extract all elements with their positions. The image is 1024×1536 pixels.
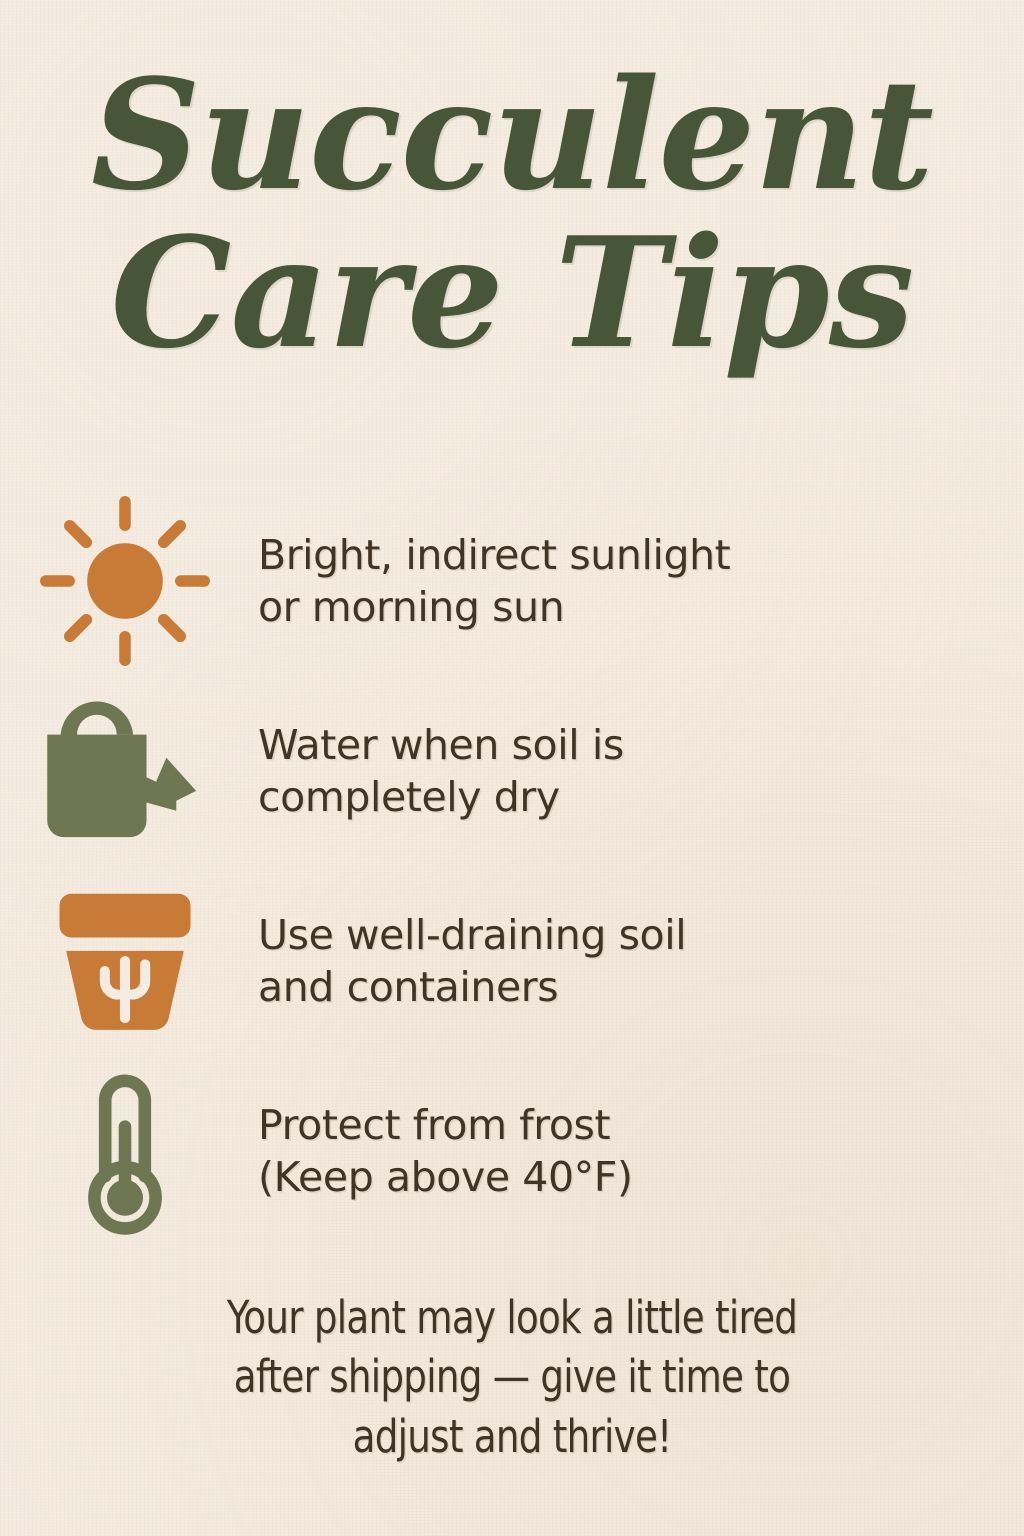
tip-text-watering: Water when soil is completely dry: [250, 719, 624, 824]
tip-line-1: Use well-draining soil: [258, 911, 686, 959]
tip-row-soil: Use well-draining soil and containers: [0, 866, 1024, 1056]
tip-line-2: completely dry: [258, 771, 624, 823]
poster-title: Succulent Care Tips: [0, 62, 1024, 366]
watering-can-icon: [0, 676, 250, 866]
tip-text-frost: Protect from frost (Keep above 40°F): [250, 1099, 633, 1204]
care-tips-list: Bright, indirect sunlight or morning sun: [0, 486, 1024, 1246]
tip-line-2: and containers: [258, 961, 686, 1013]
sun-icon: [0, 486, 250, 676]
title-line-2: Care Tips: [0, 220, 1024, 366]
footer-line-3: adjust and thrive!: [41, 1407, 983, 1466]
tip-line-2: or morning sun: [258, 581, 730, 633]
tip-text-sunlight: Bright, indirect sunlight or morning sun: [250, 529, 730, 634]
thermometer-icon: [0, 1056, 250, 1246]
tip-line-1: Bright, indirect sunlight: [258, 531, 730, 579]
title-line-1: Succulent: [0, 62, 1024, 208]
tip-line-1: Protect from frost: [258, 1101, 610, 1149]
tip-text-soil: Use well-draining soil and containers: [250, 909, 686, 1014]
footer-line-2: after shipping — give it time to: [41, 1347, 983, 1406]
tip-row-watering: Water when soil is completely dry: [0, 676, 1024, 866]
tip-line-1: Water when soil is: [258, 721, 624, 769]
tip-line-2: (Keep above 40°F): [258, 1151, 633, 1203]
tip-row-sunlight: Bright, indirect sunlight or morning sun: [0, 486, 1024, 676]
plant-pot-icon: [0, 866, 250, 1056]
footer-note: Your plant may look a little tired after…: [0, 1288, 1024, 1466]
tip-row-frost: Protect from frost (Keep above 40°F): [0, 1056, 1024, 1246]
succulent-care-tips-poster: Succulent Care Tips: [0, 0, 1024, 1536]
footer-line-1: Your plant may look a little tired: [41, 1288, 983, 1347]
